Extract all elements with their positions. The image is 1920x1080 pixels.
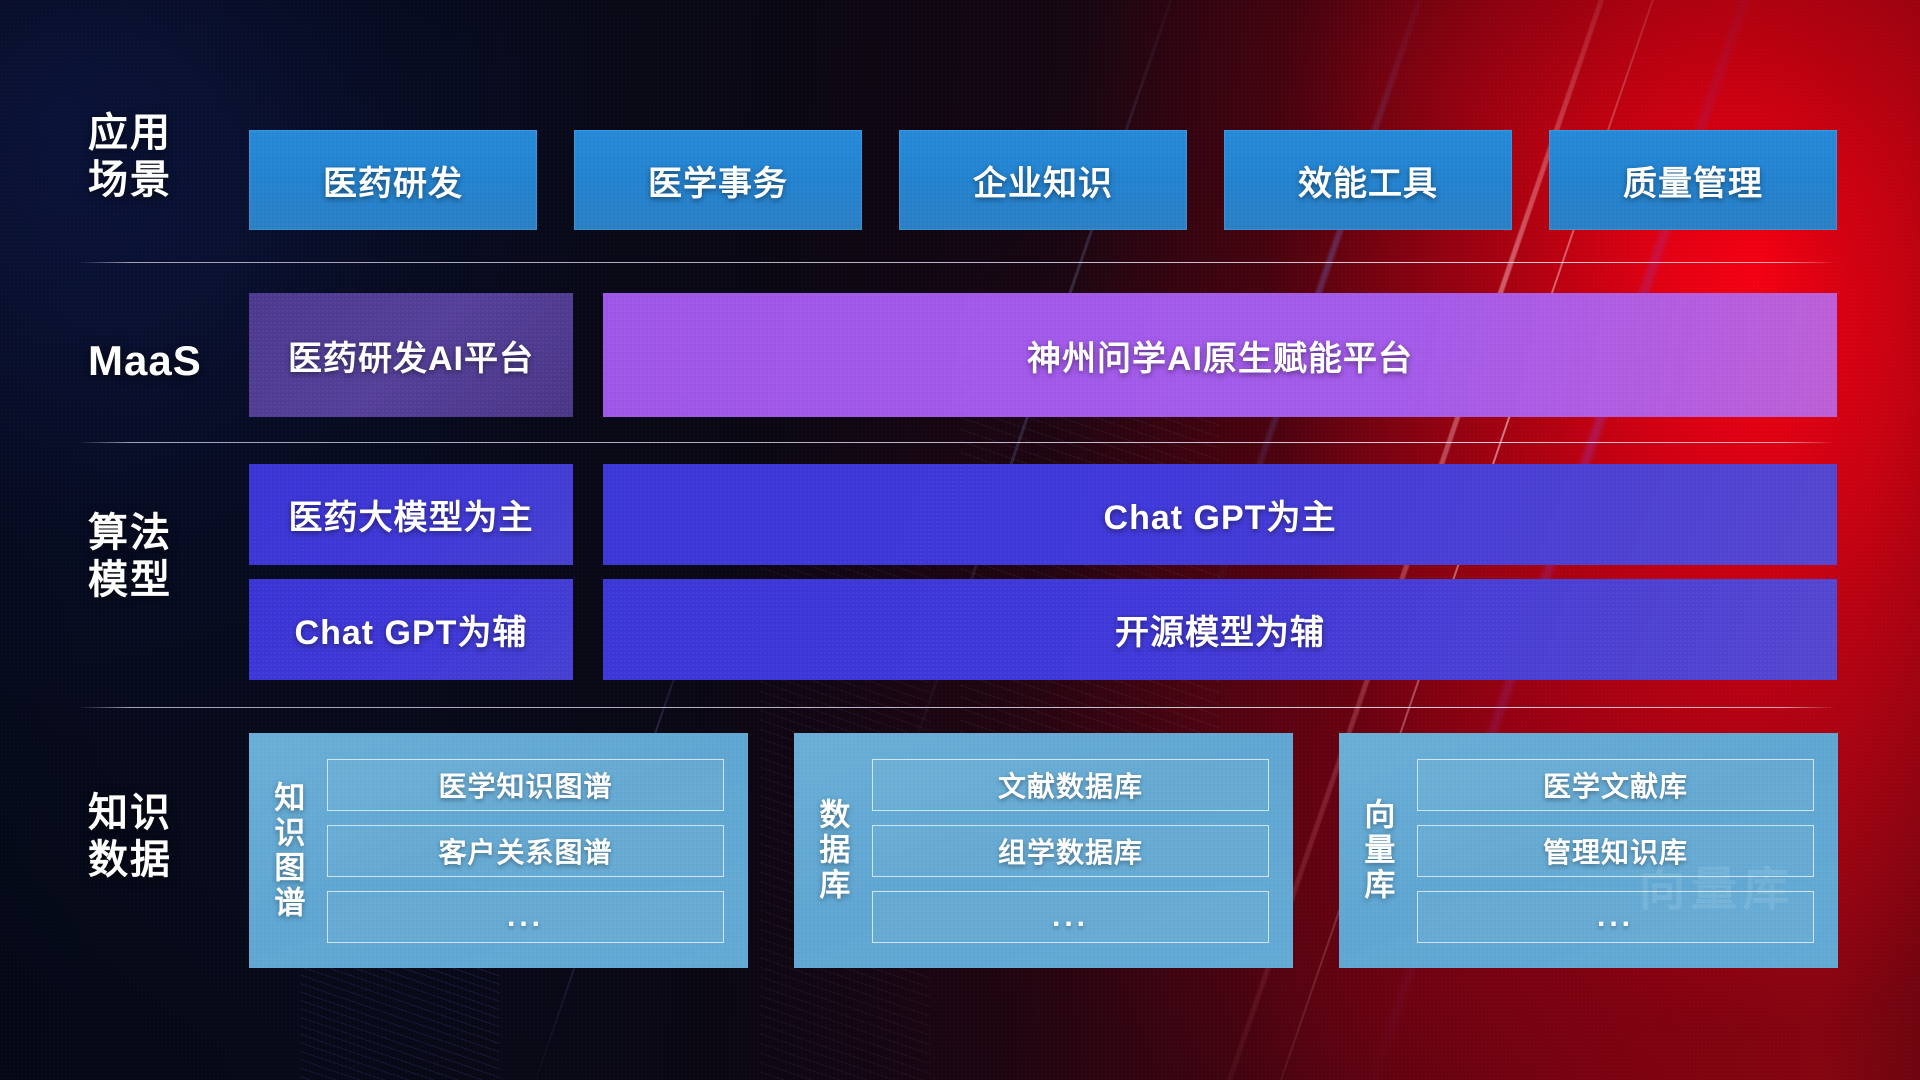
row-label-knowledge: 知识 数据 <box>88 790 238 884</box>
app-box-3[interactable]: 企业知识 <box>899 130 1187 230</box>
slide-canvas: 应用 场景 医药研发 医学事务 企业知识 效能工具 质量管理 MaaS 医药研发… <box>0 0 1920 1080</box>
app-box-2[interactable]: 医学事务 <box>574 130 862 230</box>
row-label-knowledge-line-1: 知识 <box>88 790 238 837</box>
row-label-application-line-2: 场景 <box>88 157 238 204</box>
app-box-1[interactable]: 医药研发 <box>249 130 537 230</box>
algo-left-box-2[interactable]: Chat GPT为辅 <box>249 579 573 680</box>
algo-left-box-1-label: 医药大模型为主 <box>289 490 534 539</box>
row-label-algorithm-line-1: 算法 <box>88 510 238 557</box>
row-label-maas-line-1: MaaS <box>88 336 238 385</box>
knowledge-panel-1-item-3[interactable]: ... <box>327 891 724 943</box>
knowledge-panel-2-item-1[interactable]: 文献数据库 <box>872 759 1269 811</box>
knowledge-panel-1[interactable]: 知识图谱 医学知识图谱 客户关系图谱 ... <box>249 733 748 968</box>
knowledge-panel-3-item-2[interactable]: 管理知识库 <box>1417 825 1814 877</box>
knowledge-panel-3-item-1[interactable]: 医学文献库 <box>1417 759 1814 811</box>
app-box-5[interactable]: 质量管理 <box>1549 130 1837 230</box>
app-box-4-label: 效能工具 <box>1298 156 1438 205</box>
knowledge-panel-3[interactable]: 向量库 向量库 医学文献库 管理知识库 ... <box>1339 733 1838 968</box>
knowledge-panel-1-item-1[interactable]: 医学知识图谱 <box>327 759 724 811</box>
knowledge-panel-3-items: 医学文献库 管理知识库 ... <box>1413 733 1838 968</box>
knowledge-panel-1-item-2[interactable]: 客户关系图谱 <box>327 825 724 877</box>
knowledge-panel-2-item-3[interactable]: ... <box>872 891 1269 943</box>
knowledge-panel-1-items: 医学知识图谱 客户关系图谱 ... <box>323 733 748 968</box>
row-label-application-line-1: 应用 <box>88 110 238 157</box>
row-label-application: 应用 场景 <box>88 110 238 204</box>
app-box-3-label: 企业知识 <box>973 156 1113 205</box>
knowledge-panel-1-side-label: 知识图谱 <box>249 733 323 968</box>
divider-3 <box>78 707 1835 708</box>
algo-right-box-1[interactable]: Chat GPT为主 <box>603 464 1837 565</box>
algo-right-box-2-label: 开源模型为辅 <box>1115 605 1325 654</box>
algo-left-box-2-label: Chat GPT为辅 <box>295 605 528 654</box>
row-label-algorithm-line-2: 模型 <box>88 557 238 604</box>
app-box-1-label: 医药研发 <box>323 156 463 205</box>
algo-right-box-2[interactable]: 开源模型为辅 <box>603 579 1837 680</box>
row-label-knowledge-line-2: 数据 <box>88 837 238 884</box>
row-label-maas: MaaS <box>88 336 238 385</box>
knowledge-panel-2-side-label: 数据库 <box>794 733 868 968</box>
knowledge-panel-2-item-2[interactable]: 组学数据库 <box>872 825 1269 877</box>
maas-box-left-label: 医药研发AI平台 <box>288 331 534 380</box>
app-box-2-label: 医学事务 <box>648 156 788 205</box>
maas-box-right[interactable]: 神州问学AI原生赋能平台 <box>603 293 1837 417</box>
knowledge-panel-3-side-label: 向量库 <box>1339 733 1413 968</box>
knowledge-panel-2[interactable]: 数据库 文献数据库 组学数据库 ... <box>794 733 1293 968</box>
maas-box-right-label: 神州问学AI原生赋能平台 <box>1027 331 1413 380</box>
divider-1 <box>78 262 1835 263</box>
row-label-algorithm: 算法 模型 <box>88 510 238 604</box>
app-box-5-label: 质量管理 <box>1623 156 1763 205</box>
algo-left-box-1[interactable]: 医药大模型为主 <box>249 464 573 565</box>
knowledge-panel-3-item-3[interactable]: ... <box>1417 891 1814 943</box>
app-box-4[interactable]: 效能工具 <box>1224 130 1512 230</box>
knowledge-panel-2-items: 文献数据库 组学数据库 ... <box>868 733 1293 968</box>
divider-2 <box>78 442 1835 443</box>
algo-right-box-1-label: Chat GPT为主 <box>1104 490 1337 539</box>
maas-box-left[interactable]: 医药研发AI平台 <box>249 293 573 417</box>
